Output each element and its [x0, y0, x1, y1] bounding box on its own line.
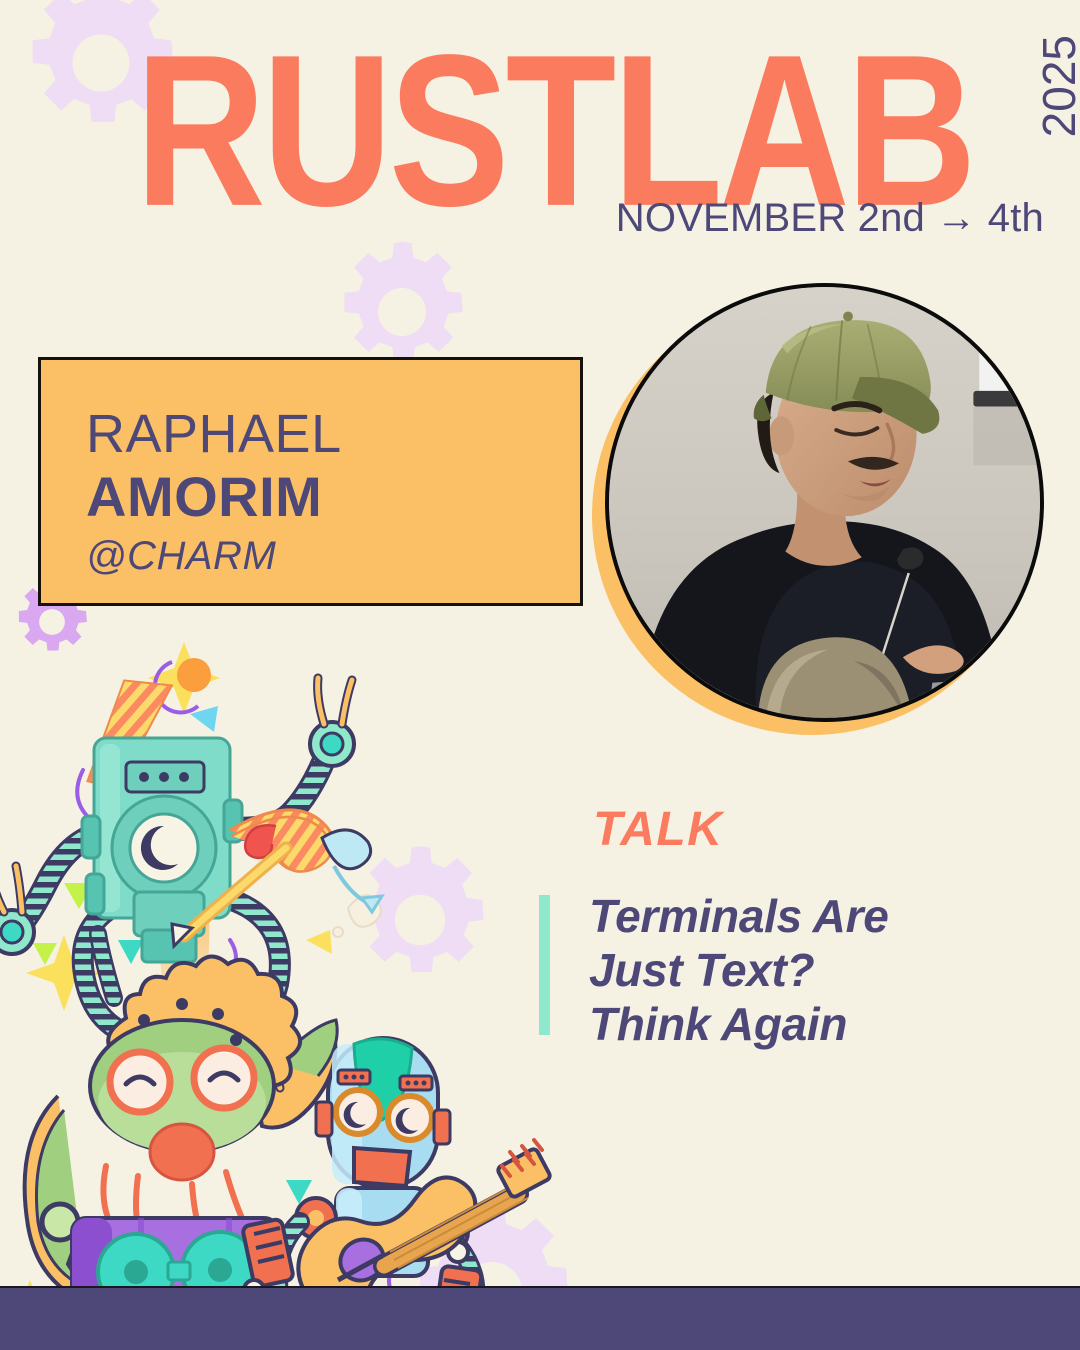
- robot-mascot-illustration: [0, 640, 566, 1350]
- event-year: 2025: [1036, 35, 1080, 137]
- speaker-first-name: RAPHAEL: [86, 407, 342, 461]
- funnel-icon: [322, 830, 382, 912]
- speaker-last-name: AMORIM: [86, 469, 322, 525]
- speaker-photo: [605, 283, 1044, 722]
- footer-bar: [0, 1286, 1080, 1350]
- speaker-name-card: RAPHAEL AMORIM @CHARM: [38, 357, 583, 606]
- event-header: RUSTLAB 2025 NOVEMBER 2nd → 4th: [0, 0, 1080, 250]
- speaker-handle: @CHARM: [86, 536, 276, 576]
- talk-label: TALK: [593, 806, 723, 854]
- speaker-announcement-poster: RUSTLAB 2025 NOVEMBER 2nd → 4th RAPHAEL …: [0, 0, 1080, 1350]
- talk-title-line-3: Think Again: [589, 997, 989, 1051]
- talk-title-line-1: Terminals Are: [589, 889, 989, 943]
- talk-title-line-2: Just Text?: [589, 943, 989, 997]
- event-dates: NOVEMBER 2nd → 4th: [616, 196, 1044, 241]
- talk-title: Terminals Are Just Text? Think Again: [589, 889, 989, 1051]
- event-year-wrap: 2025: [1036, 35, 1080, 200]
